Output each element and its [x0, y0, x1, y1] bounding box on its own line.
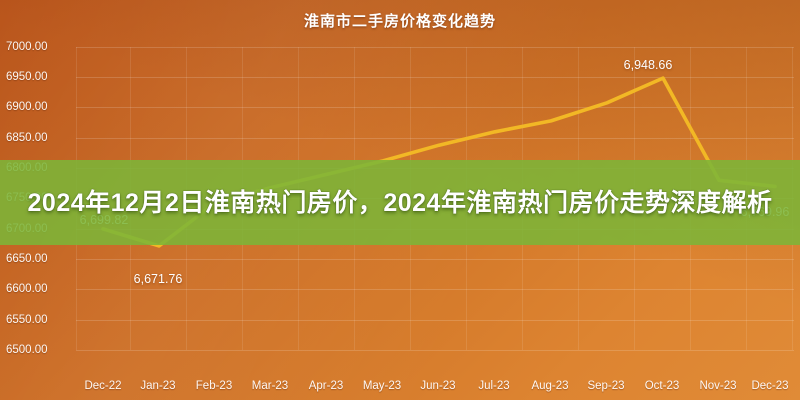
data-point-label: 6,948.66 — [624, 58, 673, 72]
x-axis-tick: Jul-23 — [478, 380, 509, 392]
headline-text: 2024年12月2日淮南热门房价，2024年淮南热门房价走势深度解析 — [20, 187, 780, 219]
x-axis-tick: Sep-23 — [587, 380, 624, 392]
x-axis-tick: Dec-23 — [751, 380, 788, 392]
data-point-label: 6,671.76 — [134, 272, 183, 286]
x-axis-tick: Jun-23 — [420, 380, 455, 392]
x-axis-tick: Feb-23 — [196, 380, 232, 392]
x-axis-tick: Jan-23 — [140, 380, 175, 392]
x-axis-tick: Nov-23 — [699, 380, 736, 392]
headline-banner: 2024年12月2日淮南热门房价，2024年淮南热门房价走势深度解析 — [0, 160, 800, 245]
x-axis-tick: Mar-23 — [252, 380, 288, 392]
chart-screenshot: 淮南市二手房价格变化趋势 7000.00 6950.00 6900.00 685… — [0, 0, 800, 400]
x-axis-tick: Aug-23 — [531, 380, 568, 392]
x-axis-tick: Oct-23 — [645, 380, 680, 392]
x-axis-tick: Dec-22 — [84, 380, 121, 392]
x-axis-tick: Apr-23 — [309, 380, 344, 392]
x-axis-tick: May-23 — [363, 380, 401, 392]
